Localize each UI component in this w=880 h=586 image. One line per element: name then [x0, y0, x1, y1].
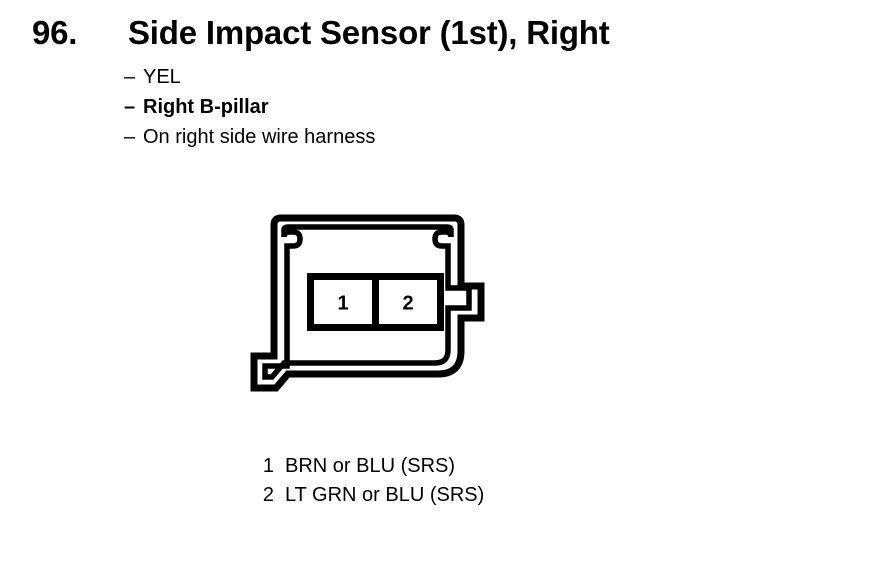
page-title: 96.Side Impact Sensor (1st), Right	[32, 12, 610, 54]
list-item-label: Right B-pillar	[143, 96, 269, 118]
legend-pin-description: LT GRN or BLU (SRS)	[274, 481, 484, 510]
legend-row: 2LT GRN or BLU (SRS)	[236, 481, 656, 510]
connector-diagram: 1 2	[236, 208, 498, 406]
entry-title: Side Impact Sensor (1st), Right	[128, 12, 610, 54]
connector-illustration: 1 2	[236, 208, 498, 406]
list-item-label: On right side wire harness	[143, 126, 375, 148]
attribute-list: –YEL –Right B-pillar –On right side wire…	[124, 62, 724, 152]
list-item: –Right B-pillar	[124, 92, 724, 122]
pin-number-1: 1	[337, 293, 348, 315]
legend-pin-number: 2	[236, 481, 274, 510]
list-item: –YEL	[124, 62, 724, 92]
entry-number: 96.	[32, 12, 128, 54]
dash-icon: –	[124, 62, 143, 92]
dash-icon: –	[124, 92, 143, 122]
legend-row: 1BRN or BLU (SRS)	[236, 452, 656, 481]
list-item-label: YEL	[143, 66, 181, 88]
pin-legend: 1BRN or BLU (SRS) 2LT GRN or BLU (SRS)	[236, 452, 656, 510]
pin-number-2: 2	[402, 293, 413, 315]
diagram-page: 96.Side Impact Sensor (1st), Right –YEL …	[0, 0, 880, 586]
dash-icon: –	[124, 122, 143, 152]
legend-pin-description: BRN or BLU (SRS)	[274, 452, 455, 481]
list-item: –On right side wire harness	[124, 122, 724, 152]
legend-pin-number: 1	[236, 452, 274, 481]
